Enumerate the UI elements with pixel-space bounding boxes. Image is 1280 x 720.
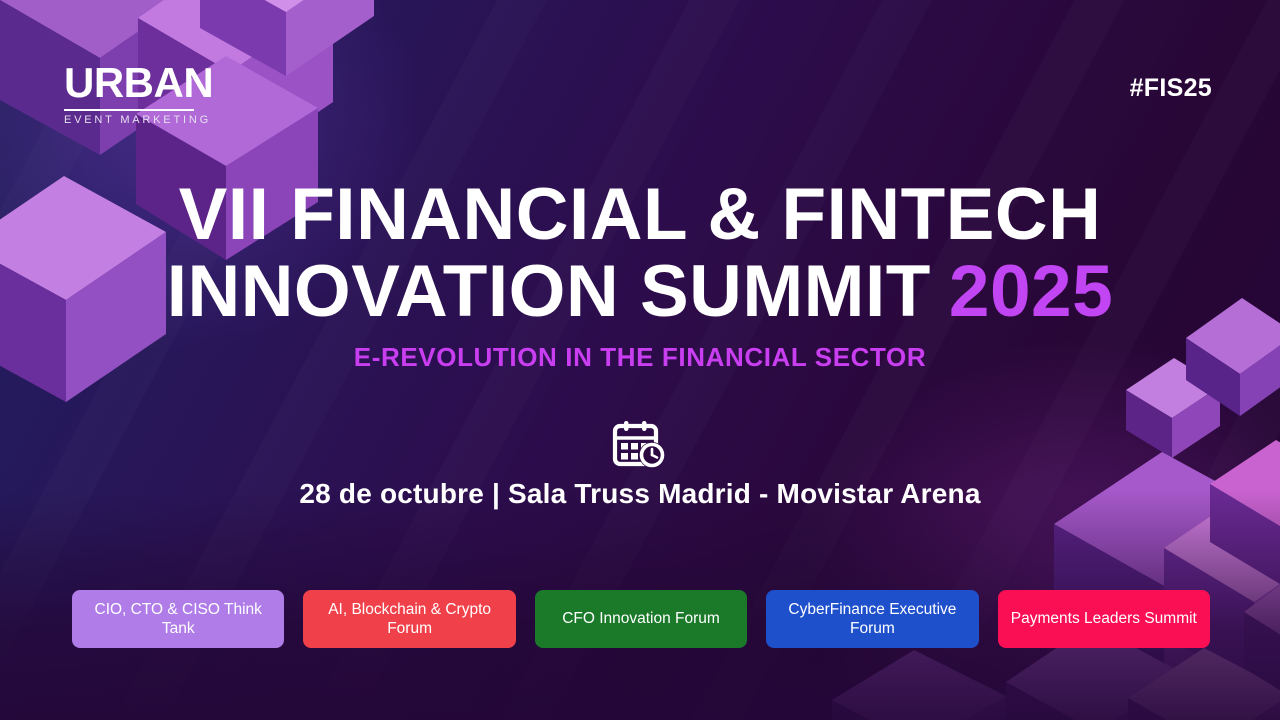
event-poster: URBAN EVENT MARKETING #FIS25 VII FINANCI… bbox=[0, 0, 1280, 720]
headline-block: VII FINANCIAL & FINTECH INNOVATION SUMMI… bbox=[0, 176, 1280, 331]
headline-line-1: VII FINANCIAL & FINTECH bbox=[0, 176, 1280, 253]
logo-divider bbox=[64, 109, 194, 111]
decorative-cube-br-6 bbox=[820, 640, 1020, 720]
track-pill-ai-blockchain-crypto[interactable]: AI, Blockchain & Crypto Forum bbox=[303, 590, 515, 648]
event-hashtag: #FIS25 bbox=[1130, 74, 1212, 103]
decorative-cube-br-7 bbox=[1240, 560, 1280, 710]
logo-tagline: EVENT MARKETING bbox=[64, 115, 254, 126]
calendar-clock-icon bbox=[0, 421, 1280, 469]
track-pill-cfo-innovation[interactable]: CFO Innovation Forum bbox=[535, 590, 747, 648]
track-pill-list: CIO, CTO & CISO Think Tank AI, Blockchai… bbox=[72, 590, 1210, 648]
track-pill-payments-leaders[interactable]: Payments Leaders Summit bbox=[998, 590, 1210, 648]
decorative-cube-br-5 bbox=[1120, 640, 1280, 720]
track-pill-cyberfinance-executive[interactable]: CyberFinance Executive Forum bbox=[766, 590, 978, 648]
headline-line-2-main: INNOVATION SUMMIT bbox=[167, 251, 931, 332]
event-subtitle: E-REVOLUTION IN THE FINANCIAL SECTOR bbox=[0, 342, 1280, 373]
date-venue-line: 28 de octubre | Sala Truss Madrid - Movi… bbox=[0, 478, 1280, 510]
urban-logo[interactable]: URBAN EVENT MARKETING bbox=[64, 62, 254, 126]
track-pill-cio-cto-ciso[interactable]: CIO, CTO & CISO Think Tank bbox=[72, 590, 284, 648]
headline-year: 2025 bbox=[949, 251, 1113, 332]
logo-wordmark: URBAN bbox=[64, 62, 254, 104]
headline-line-2: INNOVATION SUMMIT2025 bbox=[0, 253, 1280, 330]
